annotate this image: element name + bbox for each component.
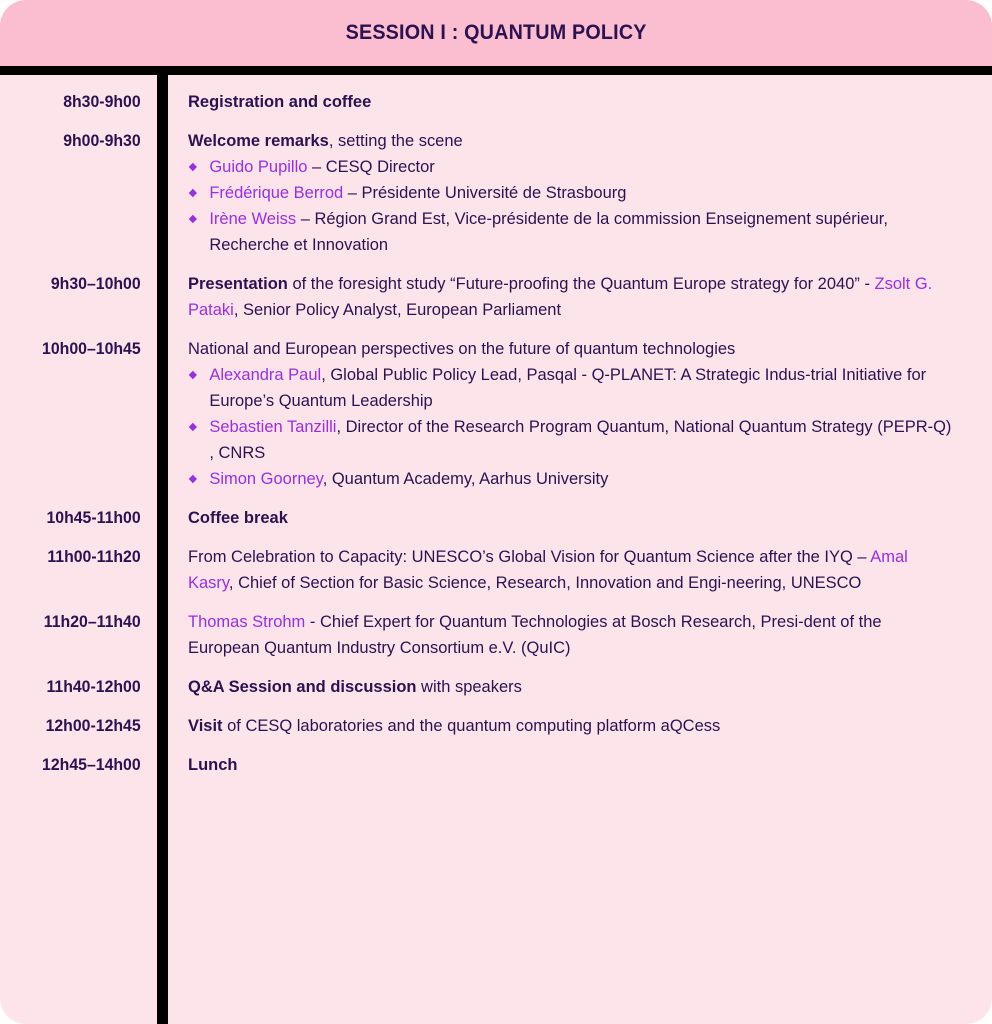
diamond-bullet-icon (189, 215, 197, 223)
row-time: 11h00-11h20 (6, 544, 157, 570)
speaker-list-item: Alexandra Paul, Global Public Policy Lea… (188, 362, 952, 414)
speaker-list-item: Frédérique Berrod – Présidente Universit… (188, 180, 952, 206)
speaker-detail: – Présidente Université de Strasbourg (343, 183, 626, 202)
schedule-row: 10h00–10h45National and European perspec… (0, 336, 992, 492)
row-lead-emphasis: Q&A Session and discussion (188, 677, 416, 696)
row-lead-text: National and European perspectives on th… (188, 336, 952, 362)
row-lead-text: Thomas Strohm - Chief Expert for Quantum… (188, 609, 952, 661)
row-lead-text: Q&A Session and discussion with speakers (188, 674, 952, 700)
diamond-bullet-icon (189, 189, 197, 197)
row-lead-tail: , Senior Policy Analyst, European Parlia… (234, 300, 561, 319)
row-time: 10h45-11h00 (6, 505, 157, 531)
row-time: 11h40-12h00 (6, 674, 157, 700)
row-time: 8h30-9h00 (6, 89, 157, 115)
row-lead-rest: National and European perspectives on th… (188, 339, 735, 358)
row-time: 9h30–10h00 (6, 271, 157, 297)
row-lead-emphasis: Registration and coffee (188, 92, 371, 111)
row-lead-rest: , setting the scene (329, 131, 463, 150)
row-lead-rest: with speakers (416, 677, 521, 696)
speaker-list: Alexandra Paul, Global Public Policy Lea… (188, 362, 976, 492)
row-body: Registration and coffee (157, 89, 992, 115)
row-time: 12h45–14h00 (6, 752, 157, 778)
schedule-row: 12h00-12h45Visit of CESQ laboratories an… (0, 713, 992, 739)
schedule-row: 8h30-9h00Registration and coffee (0, 89, 992, 115)
speaker-name: Sebastien Tanzilli (209, 417, 336, 436)
row-time: 10h00–10h45 (6, 336, 157, 362)
row-body: Thomas Strohm - Chief Expert for Quantum… (157, 609, 992, 661)
row-lead-text: Visit of CESQ laboratories and the quant… (188, 713, 952, 739)
row-lead-rest: of CESQ laboratories and the quantum com… (223, 716, 721, 735)
speaker-name: Simon Goorney (209, 469, 322, 488)
schedule-row: 11h20–11h40Thomas Strohm - Chief Expert … (0, 609, 992, 661)
row-time: 12h00-12h45 (6, 713, 157, 739)
row-body: From Celebration to Capacity: UNESCO’s G… (157, 544, 992, 596)
diamond-bullet-icon (189, 371, 197, 379)
session-header-band: SESSION I : QUANTUM POLICY (0, 0, 992, 66)
page-title: SESSION I : QUANTUM POLICY (345, 21, 646, 45)
schedule-row: 9h30–10h00Presentation of the foresight … (0, 271, 992, 323)
schedule-row: 12h45–14h00Lunch (0, 752, 992, 778)
row-lead-rest: of the foresight study “Future-proofing … (288, 274, 875, 293)
row-lead-emphasis: Coffee break (188, 508, 288, 527)
row-lead-text: Coffee break (188, 505, 952, 531)
speaker-detail: – CESQ Director (307, 157, 434, 176)
row-lead-rest: From Celebration to Capacity: UNESCO’s G… (188, 547, 870, 566)
speaker-list: Guido Pupillo – CESQ DirectorFrédérique … (188, 154, 976, 258)
speaker-detail: , Quantum Academy, Aarhus University (323, 469, 609, 488)
diamond-bullet-icon (189, 163, 197, 171)
row-time: 11h20–11h40 (6, 609, 157, 635)
speaker-list-item: Simon Goorney, Quantum Academy, Aarhus U… (188, 466, 952, 492)
row-lead-emphasis: Lunch (188, 755, 237, 774)
row-body: Q&A Session and discussion with speakers (157, 674, 992, 700)
row-lead-text: Lunch (188, 752, 952, 778)
schedule-row: 10h45-11h00Coffee break (0, 505, 992, 531)
session-programme-card: SESSION I : QUANTUM POLICY 8h30-9h00Regi… (0, 0, 992, 1024)
speaker-detail: – Région Grand Est, Vice-présidente de l… (209, 209, 888, 254)
row-body: Visit of CESQ laboratories and the quant… (157, 713, 992, 739)
speaker-name: Guido Pupillo (209, 157, 307, 176)
row-body: Coffee break (157, 505, 992, 531)
schedule-row: 11h40-12h00Q&A Session and discussion wi… (0, 674, 992, 700)
speaker-list-item: Guido Pupillo – CESQ Director (188, 154, 952, 180)
speaker-name: Frédérique Berrod (209, 183, 343, 202)
speaker-name: Alexandra Paul (209, 365, 321, 384)
row-lead-emphasis: Presentation (188, 274, 288, 293)
row-body: National and European perspectives on th… (157, 336, 992, 492)
speaker-list-item: Sebastien Tanzilli, Director of the Rese… (188, 414, 952, 466)
row-body: Lunch (157, 752, 992, 778)
row-lead-emphasis: Welcome remarks (188, 131, 329, 150)
speaker-name: Irène Weiss (209, 209, 296, 228)
diamond-bullet-icon (189, 423, 197, 431)
row-lead-emphasis: Visit (188, 716, 223, 735)
horizontal-divider (0, 66, 992, 75)
row-lead-tail: , Chief of Section for Basic Science, Re… (229, 573, 861, 592)
row-body: Welcome remarks, setting the sceneGuido … (157, 128, 992, 258)
schedule-table: 8h30-9h00Registration and coffee9h00-9h3… (0, 75, 992, 1024)
row-lead-text: Presentation of the foresight study “Fut… (188, 271, 952, 323)
row-lead-text: From Celebration to Capacity: UNESCO’s G… (188, 544, 952, 596)
schedule-row: 11h00-11h20From Celebration to Capacity:… (0, 544, 992, 596)
speaker-list-item: Irène Weiss – Région Grand Est, Vice-pré… (188, 206, 952, 258)
speaker-name: Thomas Strohm (188, 612, 305, 631)
row-lead-text: Welcome remarks, setting the scene (188, 128, 952, 154)
schedule-row: 9h00-9h30Welcome remarks, setting the sc… (0, 128, 992, 258)
row-lead-text: Registration and coffee (188, 89, 952, 115)
row-time: 9h00-9h30 (6, 128, 157, 154)
row-body: Presentation of the foresight study “Fut… (157, 271, 992, 323)
diamond-bullet-icon (189, 475, 197, 483)
